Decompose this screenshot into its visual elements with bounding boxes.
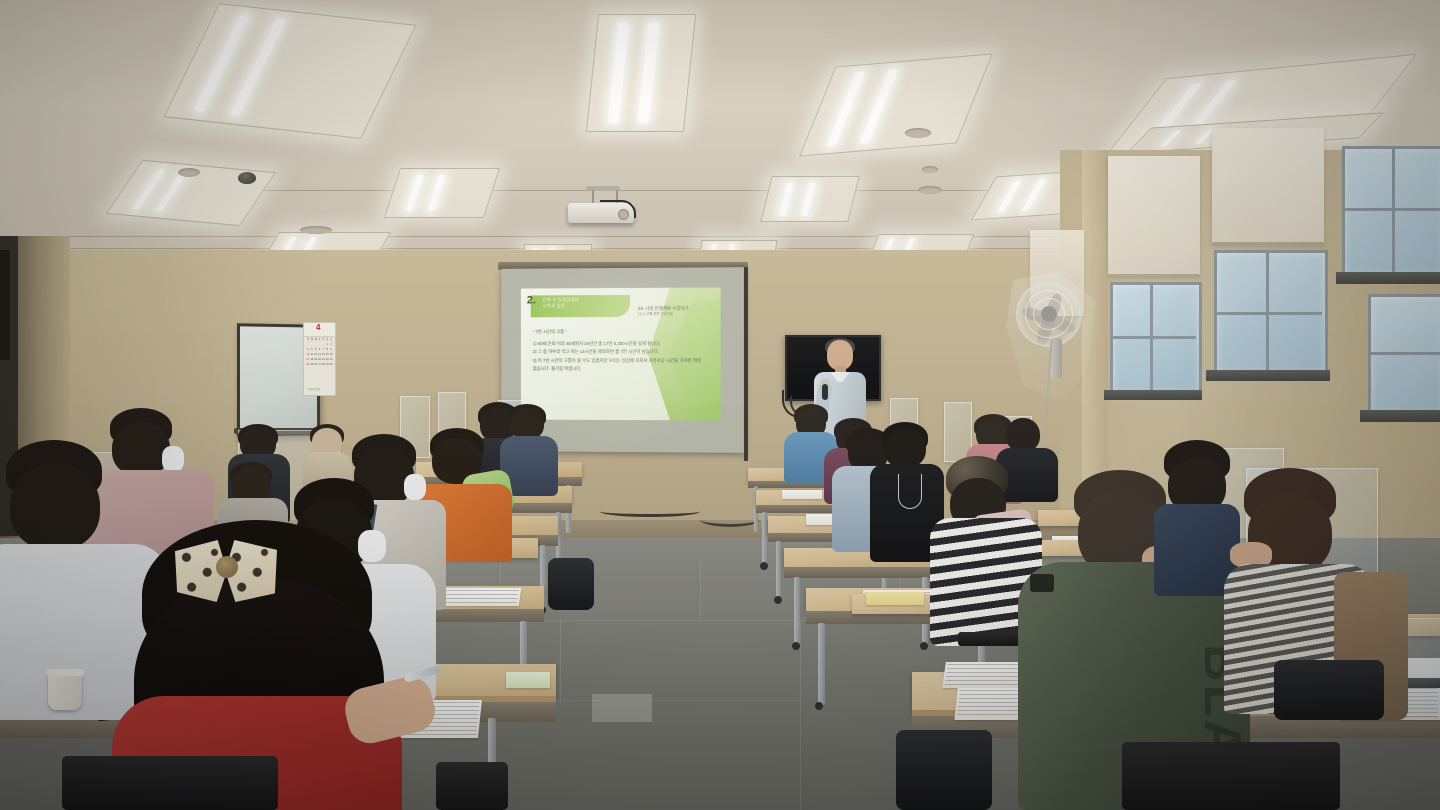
slide-section-number: 2. bbox=[527, 295, 536, 306]
ceiling-light-fixture bbox=[384, 168, 500, 218]
floor-cable bbox=[600, 506, 700, 517]
calendar-month: 4 bbox=[316, 324, 320, 332]
calendar-grid: 일월화수목금토123456789101112131415161718192021… bbox=[306, 338, 333, 368]
ceiling-vent bbox=[922, 166, 938, 173]
window bbox=[1342, 146, 1440, 278]
chair bbox=[62, 756, 278, 810]
ceiling-light-fixture bbox=[760, 176, 859, 222]
slide-header: 03. 나의 인생계획 수립하기 (1) 누구를 위한 인생지표 bbox=[638, 306, 688, 317]
face-mask bbox=[404, 474, 426, 500]
slide-section-title: 은퇴 후 인생설계의 시작과 실천 bbox=[543, 297, 579, 308]
door-window bbox=[0, 250, 10, 360]
chair bbox=[1122, 742, 1340, 810]
handout-paper bbox=[506, 672, 550, 688]
window-blind bbox=[1212, 128, 1324, 244]
backpack bbox=[896, 730, 992, 810]
necklace-icon bbox=[898, 474, 922, 509]
hair-bow bbox=[175, 534, 279, 608]
ceiling-vent bbox=[300, 226, 332, 234]
handout-paper bbox=[782, 490, 822, 499]
projector-cable bbox=[600, 200, 636, 218]
slide-body: " 7만 시간의 고통 " 1) 60세 은퇴 이후 80세까지 20년간 총 … bbox=[533, 328, 703, 374]
backpack bbox=[1274, 660, 1384, 720]
slide-quote: " 7만 시간의 고통 " bbox=[533, 328, 703, 337]
floor-tile-patch bbox=[592, 694, 652, 722]
ceiling-vent bbox=[905, 128, 931, 138]
ceiling-light-fixture bbox=[586, 14, 696, 132]
calendar-day: 30 bbox=[329, 363, 333, 368]
calendar-footer: 소방안전교육 bbox=[307, 388, 320, 392]
slide-bullet: 2) 그 중 하루의 먹고 자는 14시간을 제외하면 총 7만 시간이 남습니… bbox=[533, 348, 703, 357]
ceiling-vent bbox=[918, 186, 942, 194]
chair bbox=[436, 762, 508, 810]
projected-slide: 2. 은퇴 후 인생설계의 시작과 실천 03. 나의 인생계획 수립하기 (1… bbox=[521, 287, 721, 420]
face-mask bbox=[162, 446, 184, 472]
paper-cup bbox=[48, 672, 82, 710]
wall-fan bbox=[1016, 281, 1082, 347]
wall-calendar: 4 일월화수목금토1234567891011121314151617181920… bbox=[303, 322, 336, 396]
classroom-photo-scene: 4 일월화수목금토1234567891011121314151617181920… bbox=[0, 0, 1440, 810]
handout-paper bbox=[437, 588, 522, 606]
ceiling-vent bbox=[178, 168, 200, 177]
slide-bullet: 3) 이 7만 시간이 고통이 될 수도 있겠지만 우리는 일상에 지쳐서 자유… bbox=[533, 357, 703, 374]
security-camera-icon bbox=[238, 172, 256, 184]
jacket-logo-patch bbox=[1030, 574, 1054, 592]
window bbox=[1368, 294, 1440, 416]
face-mask bbox=[358, 530, 386, 562]
window-blind bbox=[1108, 156, 1200, 276]
backpack bbox=[548, 558, 594, 610]
window bbox=[1110, 282, 1202, 396]
jacket-print-text: BLACKY bbox=[1048, 644, 1248, 720]
handout-paper bbox=[866, 592, 924, 605]
slide-bullet: 1) 60세 은퇴 이후 80세까지 20년간 총 17만 5,200시간을 살… bbox=[533, 339, 703, 348]
floor-cable bbox=[700, 512, 760, 527]
